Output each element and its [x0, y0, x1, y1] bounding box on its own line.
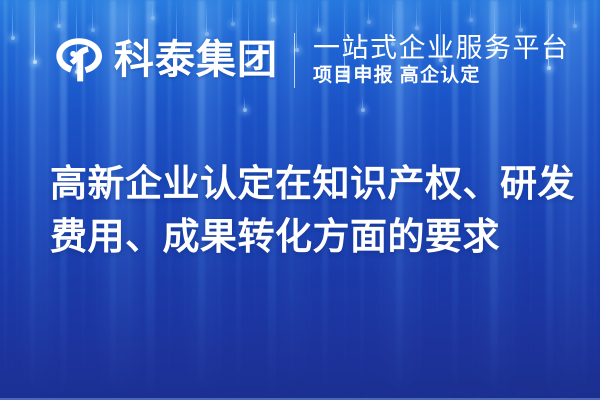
slogan-main: 一站式企业服务平台 — [313, 33, 570, 63]
light-particle — [152, 0, 153, 18]
streak-glow — [26, 0, 52, 400]
light-particle — [318, 0, 319, 30]
light-particle — [574, 0, 575, 26]
light-particle — [368, 0, 369, 22]
streak — [4, 0, 7, 400]
light-particle — [58, 0, 59, 26]
light-particle — [244, 96, 245, 110]
light-particle — [206, 0, 207, 34]
streak — [46, 0, 48, 400]
streak — [594, 0, 597, 400]
title-line-2: 费用、成果转化方面的要求 — [50, 211, 570, 264]
light-particle — [272, 0, 273, 20]
promo-banner: 科泰集团 一站式企业服务平台 项目申报 高企认定 高新企业认定在知识产权、研发 … — [0, 0, 600, 400]
banner-header: 科泰集团 一站式企业服务平台 项目申报 高企认定 — [50, 30, 570, 90]
light-particle — [12, 0, 13, 38]
light-particle — [232, 0, 233, 24]
light-particle — [92, 0, 93, 30]
title-line-1: 高新企业认定在知识产权、研发 — [50, 158, 570, 211]
ketai-circular-logo-icon — [50, 31, 108, 89]
light-particle — [470, 0, 471, 20]
light-particle — [416, 0, 417, 28]
streak — [16, 0, 18, 400]
brand-name: 科泰集团 — [114, 40, 278, 80]
light-particle — [362, 96, 363, 110]
header-divider — [294, 33, 295, 88]
slogan-sub: 项目申报 高企认定 — [313, 66, 570, 87]
page-title: 高新企业认定在知识产权、研发 费用、成果转化方面的要求 — [50, 158, 570, 263]
streak — [582, 0, 587, 400]
slogan-group: 一站式企业服务平台 项目申报 高企认定 — [313, 31, 570, 89]
light-particle — [34, 0, 35, 62]
streak — [30, 0, 35, 400]
light-particle — [520, 0, 521, 30]
